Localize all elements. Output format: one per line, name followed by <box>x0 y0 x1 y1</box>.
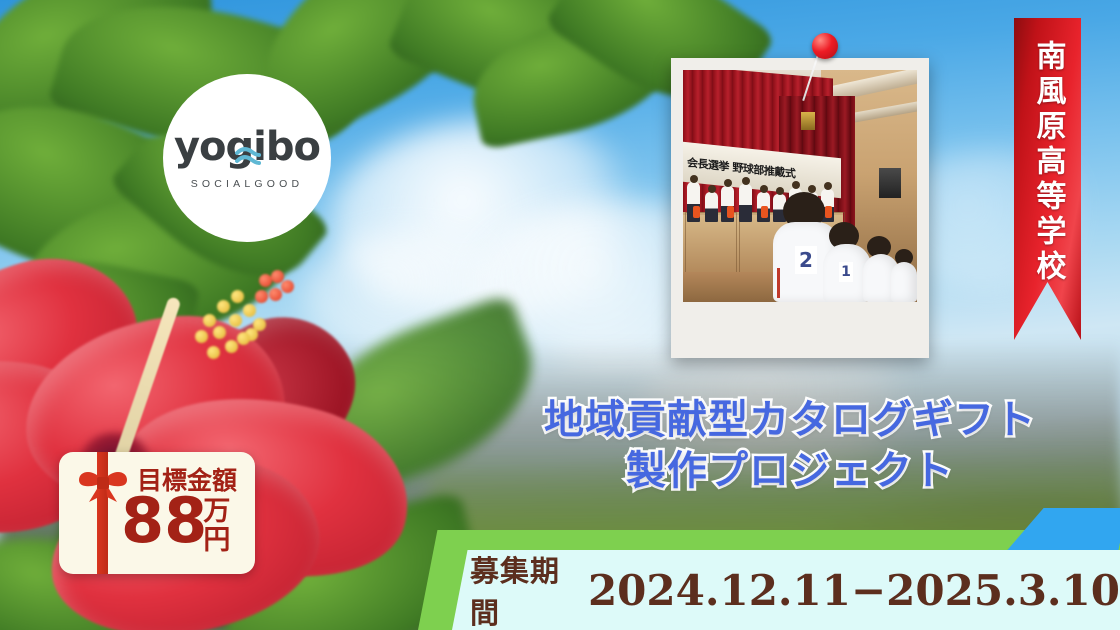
logo-wordmark: yogibo <box>174 127 320 167</box>
yogibo-squiggle-icon <box>235 147 261 167</box>
goal-amount-badge: 目標金額 88 万円 <box>59 452 255 574</box>
goal-amount-unit: 万円 <box>199 496 227 554</box>
red-pushpin-icon <box>812 33 838 59</box>
school-name-label: 南風原高等学校 <box>1033 40 1063 285</box>
logo-tagline: SOCIALGOOD <box>191 178 304 190</box>
jersey-number: 2 <box>795 246 817 274</box>
title-line-1: 地域貢献型カタログギフト <box>500 395 1080 446</box>
period-dates: 2024.12.11−2025.3.10 <box>588 566 1120 615</box>
goal-amount-value: 88 <box>121 490 207 552</box>
title-line-2: 製作プロジェクト <box>500 446 1080 497</box>
period-band-content: 募集期間 2024.12.11−2025.3.10 <box>470 550 1120 630</box>
campaign-banner: yogibo SOCIALGOOD 会長選挙 野球部推戴式 <box>0 0 1120 630</box>
yogibo-logo[interactable]: yogibo SOCIALGOOD <box>163 74 331 242</box>
campaign-title: 地域貢献型カタログギフト 製作プロジェクト <box>500 395 1080 497</box>
jersey-number: 1 <box>839 262 853 282</box>
polaroid-image: 会長選挙 野球部推戴式 <box>683 70 917 302</box>
period-label: 募集期間 <box>470 548 570 630</box>
hibiscus-flower <box>0 258 450 630</box>
school-crest <box>801 112 815 130</box>
baseball-team-players: 2 1 <box>767 194 917 302</box>
flower-stamen-head <box>185 270 295 370</box>
polaroid-photo[interactable]: 会長選挙 野球部推戴式 <box>671 58 929 358</box>
